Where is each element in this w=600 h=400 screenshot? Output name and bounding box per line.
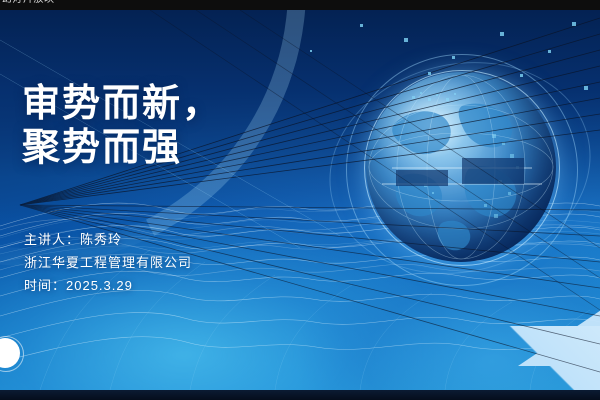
converging-ray-lines: [0, 10, 600, 390]
particle-dot: [404, 38, 408, 42]
slide-title-line2: 聚势而强: [22, 126, 222, 170]
slide-subtitle: 主讲人：陈秀玲 浙江华夏工程管理有限公司 时间：2025.3.29: [24, 228, 192, 297]
app-title-bar: 幻灯片放映: [0, 0, 600, 10]
slide-title: 审势而新， 聚势而强: [22, 82, 222, 170]
slide-canvas: 审势而新， 聚势而强 主讲人：陈秀玲 浙江华夏工程管理有限公司 时间：2025.…: [0, 10, 600, 390]
date-line: 时间：2025.3.29: [24, 274, 192, 297]
particle-dot: [584, 86, 588, 90]
particle-dot: [428, 72, 431, 75]
particle-dot: [572, 22, 576, 26]
window-bottom-bar: [0, 390, 600, 400]
particle-dot: [360, 24, 363, 27]
particle-dot: [548, 50, 551, 53]
slide-title-line1: 审势而新，: [22, 83, 222, 125]
particle-dot: [452, 56, 455, 59]
app-title-label: 幻灯片放映: [2, 0, 55, 5]
particle-dot: [520, 74, 523, 77]
particle-dot: [500, 32, 504, 36]
company-line: 浙江华夏工程管理有限公司: [24, 251, 192, 274]
presenter-line: 主讲人：陈秀玲: [24, 228, 192, 251]
slideshow-window: 幻灯片放映: [0, 0, 600, 400]
particle-dot: [310, 50, 312, 52]
